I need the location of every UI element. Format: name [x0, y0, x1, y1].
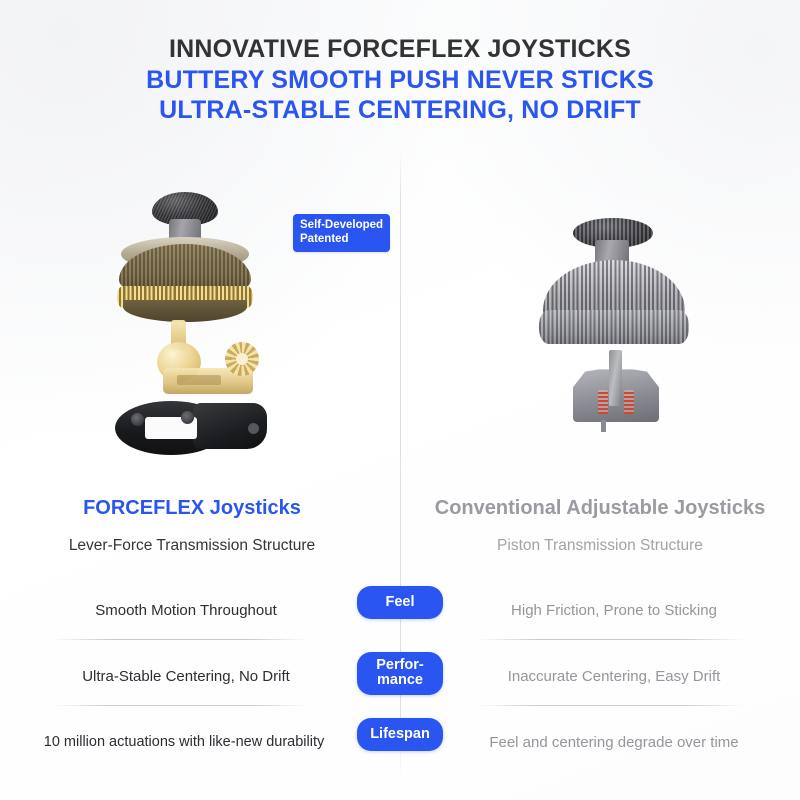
row-separator-left [52, 639, 308, 640]
row-label-lifespan: Lifespan [357, 718, 443, 751]
right-column-heading: Conventional Adjustable Joysticks Piston… [420, 496, 780, 556]
headline-line-3: ULTRA-STABLE CENTERING, NO DRIFT [0, 95, 800, 126]
piston-spring-icon [624, 390, 634, 414]
piston-mechanism-icon [573, 350, 659, 432]
comparison-row: 10 million actuations with like-new dura… [0, 720, 800, 786]
row-label-feel: Feel [357, 586, 443, 619]
row-separator-right [478, 705, 744, 706]
piston-foot-icon [601, 420, 606, 432]
row-left-value: 10 million actuations with like-new dura… [8, 720, 360, 764]
black-base-icon [115, 395, 275, 461]
row-label-performance: Perfor- mance [357, 652, 443, 695]
left-column-subtitle: Lever-Force Transmission Structure [12, 537, 372, 556]
headline-line-2: BUTTERY SMOOTH PUSH NEVER STICKS [0, 65, 800, 96]
row-right-value: Inaccurate Centering, Easy Drift [440, 654, 788, 698]
headline-block: INNOVATIVE FORCEFLEX JOYSTICKS BUTTERY S… [0, 34, 800, 126]
headline-line-1: INNOVATIVE FORCEFLEX JOYSTICKS [0, 34, 800, 65]
base-post-icon [131, 413, 144, 426]
left-column-heading: FORCEFLEX Joysticks Lever-Force Transmis… [12, 496, 372, 556]
left-column-title: FORCEFLEX Joysticks [12, 496, 372, 520]
conventional-joystick-image [525, 218, 705, 433]
row-right-value: High Friction, Prone to Sticking [440, 588, 788, 632]
ring-bottom-icon [123, 300, 247, 322]
comparison-row: Smooth Motion Throughout Feel High Frict… [0, 588, 800, 654]
base-post-icon [181, 411, 194, 424]
ribbed-skirt-icon [539, 310, 689, 344]
lever-gear-icon [225, 342, 259, 376]
row-left-value: Smooth Motion Throughout [12, 588, 360, 632]
right-column-title: Conventional Adjustable Joysticks [420, 496, 780, 520]
patent-badge-line-1: Self-Developed [300, 218, 383, 232]
infographic-page: INNOVATIVE FORCEFLEX JOYSTICKS BUTTERY S… [0, 0, 800, 800]
row-right-value: Feel and centering degrade over time [440, 720, 788, 764]
forceflex-joystick-image [95, 192, 310, 462]
comparison-table: Smooth Motion Throughout Feel High Frict… [0, 588, 800, 786]
piston-spring-icon [598, 390, 608, 414]
piston-shaft-icon [609, 350, 622, 406]
comparison-row: Ultra-Stable Centering, No Drift Perfor-… [0, 654, 800, 720]
row-left-value: Ultra-Stable Centering, No Drift [12, 654, 360, 698]
right-column-subtitle: Piston Transmission Structure [420, 537, 780, 556]
row-separator-right [478, 639, 744, 640]
row-separator-left [52, 705, 308, 706]
patent-badge-line-2: Patented [300, 232, 383, 246]
base-arm-icon [193, 403, 267, 449]
amber-lever-mechanism-icon [147, 320, 267, 398]
